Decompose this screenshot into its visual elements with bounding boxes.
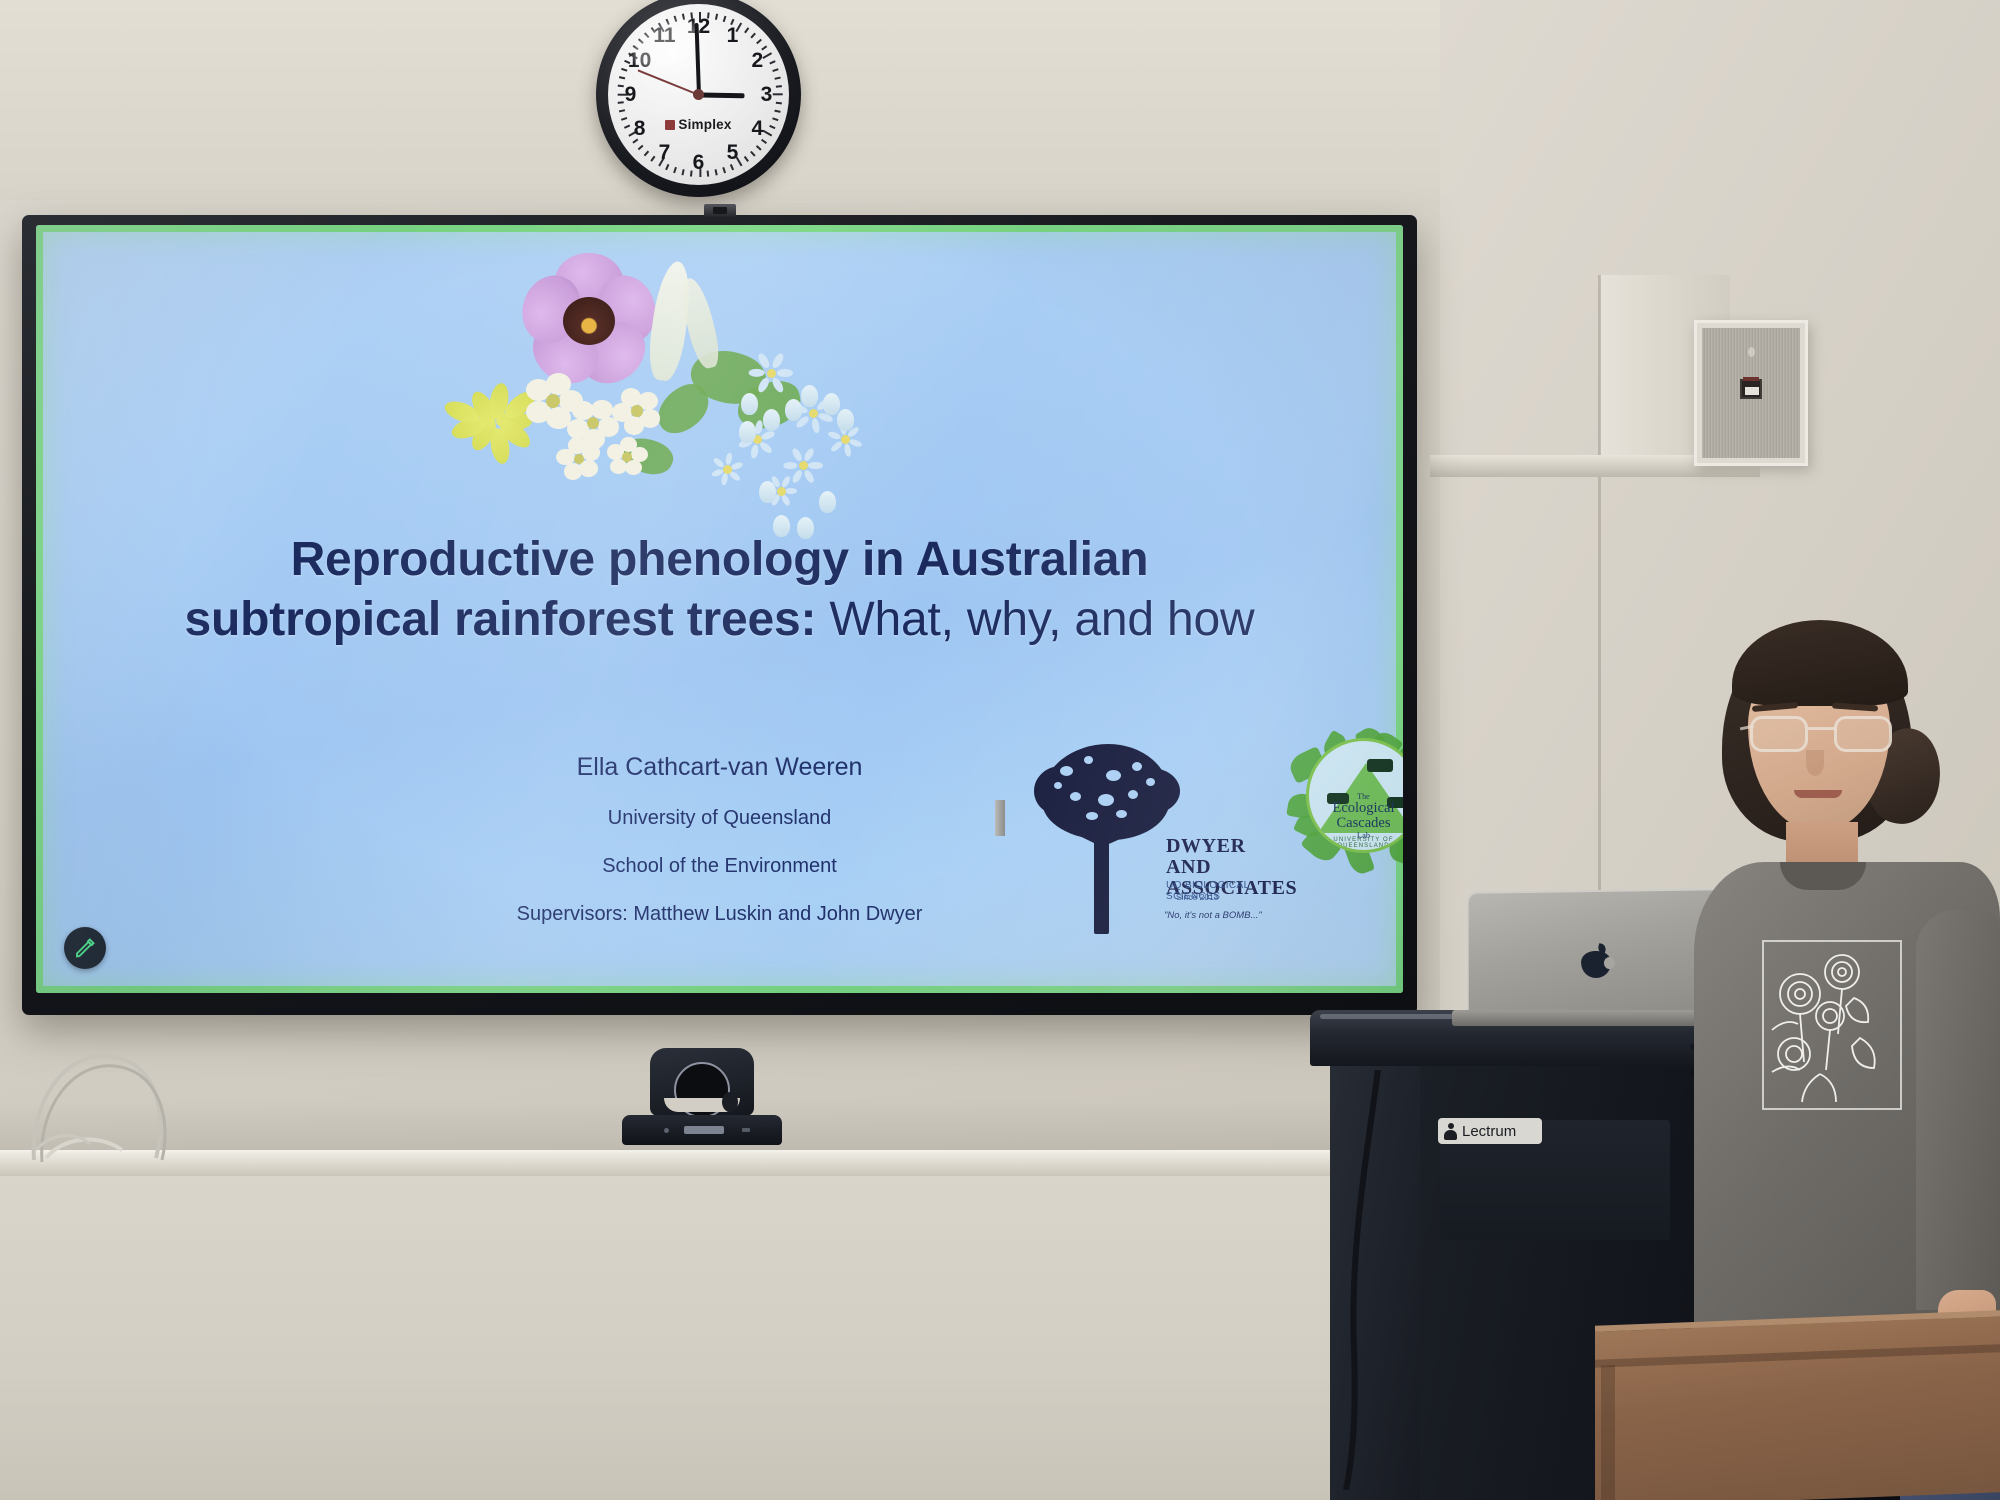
blue-star-petal: [725, 453, 733, 465]
clock-tick: [756, 39, 762, 44]
blue-star-petal: [808, 462, 822, 469]
blue-star-petal: [803, 446, 816, 462]
blue-flower-center: [777, 487, 786, 496]
wooden-desk: [1595, 1310, 2000, 1500]
clock-tick: [644, 151, 649, 157]
clock-numeral-3: 3: [754, 82, 780, 108]
clock-tick: [722, 16, 725, 22]
camera-head: [650, 1048, 754, 1116]
blue-star-petal: [777, 369, 793, 377]
white-flower-center: [622, 452, 632, 462]
blue-star-petal: [783, 462, 797, 469]
tree-canopy-gap: [1086, 812, 1098, 820]
flower-bud: [801, 385, 818, 407]
blue-star-petal: [785, 488, 797, 494]
blue-star-petal: [790, 446, 803, 462]
eco-logo-line1: Ecological: [1309, 801, 1403, 816]
eco-logo-ring: The Ecological Cascades Lab UNIVERSITY O…: [1306, 738, 1403, 853]
wall-clock: 121234567891011 Simplex: [596, 0, 801, 197]
clock-tick: [673, 167, 676, 173]
glasses-bridge: [1808, 727, 1836, 730]
clock-brand-text: Simplex: [678, 117, 731, 132]
presentation-display[interactable]: Reproductive phenology in Australian sub…: [22, 215, 1417, 1015]
blue-star-petal: [761, 430, 776, 441]
clock-tick: [772, 68, 778, 71]
camera-port: [742, 1128, 750, 1132]
desk-leg: [1601, 1365, 1615, 1500]
annotate-pencil-button[interactable]: [64, 927, 106, 969]
clock-tick: [750, 151, 755, 157]
clock-tick: [714, 14, 717, 20]
tree-canopy-gap: [1060, 766, 1073, 776]
eco-logo-ring-text: UNIVERSITY OF QUEENSLAND: [1309, 837, 1403, 849]
slide-content: Reproductive phenology in Australian sub…: [36, 225, 1403, 993]
blue-star-petal: [843, 443, 852, 457]
tree-canopy-gap: [1054, 782, 1062, 789]
tree-canopy-gap: [1070, 792, 1081, 801]
pencil-edit-icon: [73, 936, 97, 960]
wall-speaker: [1694, 320, 1808, 466]
eco-logo-text: The Ecological Cascades Lab: [1309, 793, 1403, 839]
presenter-hair-front: [1732, 620, 1908, 706]
presenter-arm: [1916, 910, 2000, 1310]
flower-bud: [819, 491, 836, 513]
flower-bud: [741, 393, 758, 415]
animal-silhouette-icon: [1367, 759, 1393, 772]
clock-tick: [774, 77, 780, 80]
flower-bud: [759, 481, 776, 503]
flower-bud: [823, 393, 840, 415]
glasses-lens-right: [1834, 716, 1892, 752]
blue-flower-center: [767, 369, 776, 378]
slide-hero-flower-collage: [441, 233, 896, 533]
flower-bud: [785, 399, 802, 421]
clock-numeral-6: 6: [686, 150, 712, 176]
tree-canopy-gap: [1128, 790, 1138, 799]
tree-trunk-icon: [1094, 826, 1109, 934]
dwyer-logo-tagline: "No, it's not a BOMB...": [1164, 910, 1279, 921]
eco-logo-line2: Cascades: [1309, 816, 1403, 831]
tree-canopy-gap: [1098, 794, 1114, 806]
clock-numeral-1: 1: [720, 23, 746, 49]
white-petal: [582, 444, 600, 461]
speaker-badge: [1740, 379, 1762, 399]
floral-line-art-icon: [1764, 942, 1900, 1108]
presenter-shirt-floral-graphic: [1762, 940, 1902, 1110]
lecture-room-scene: 121234567891011 Simplex Reproduc: [0, 0, 2000, 1500]
logo-ecological-cascades-lab: The Ecological Cascades Lab UNIVERSITY O…: [1286, 730, 1403, 880]
blue-star-petal: [810, 418, 820, 434]
presenter-mouth: [1794, 790, 1842, 798]
clock-tick: [722, 167, 725, 173]
speaker-screw: [1748, 347, 1755, 357]
clock-tick: [750, 33, 755, 39]
clock-tick: [756, 145, 762, 150]
blue-star-petal: [721, 473, 729, 485]
display-screen[interactable]: Reproductive phenology in Australian sub…: [36, 225, 1403, 993]
camera-knob: [722, 1092, 738, 1112]
flower-bud: [763, 409, 780, 431]
desk-edge: [1595, 1344, 2000, 1368]
slide-title: Reproductive phenology in Australian sub…: [36, 530, 1403, 649]
purple-flower-dark-center: [563, 297, 615, 345]
blue-star-petal: [771, 353, 786, 370]
blue-star-petal: [849, 438, 863, 448]
camera-indicator-led: [664, 1128, 669, 1133]
presenter-glasses-icon: [1748, 716, 1896, 752]
blue-star-petal: [730, 461, 743, 470]
slide-title-line2-bold: subtropical rainforest trees:: [185, 593, 817, 646]
clock-hour-hand: [698, 92, 744, 98]
blue-flower-center: [809, 409, 818, 418]
lectern-label-text: Lectrum: [1462, 1123, 1516, 1140]
clock-center-cap: [693, 89, 704, 100]
tree-canopy-gap: [1106, 770, 1121, 781]
clock-tick: [774, 110, 780, 113]
wall-lower: [0, 1176, 1440, 1500]
logo-dwyer-and-associates: DWYER AND ASSOCIATES UQ BIOLOGICAL SCIEN…: [1036, 740, 1276, 940]
clock-brand-label: Simplex: [608, 117, 789, 132]
white-petal: [546, 373, 570, 395]
clock-numeral-7: 7: [652, 140, 678, 166]
display-stand-neck: [995, 800, 1005, 836]
blue-star-petal: [790, 468, 803, 484]
clock-face: 121234567891011 Simplex: [608, 4, 789, 185]
blue-star-petal: [750, 444, 759, 459]
dwyer-logo-since: Since 2013: [1176, 892, 1276, 902]
glasses-lens-left: [1750, 716, 1808, 752]
coiled-cables: [30, 1040, 240, 1165]
flower-bud: [837, 409, 854, 431]
clock-numeral-2: 2: [744, 48, 770, 74]
tree-canopy-gap: [1084, 756, 1093, 764]
camera-status-panel: [684, 1126, 724, 1134]
clock-numeral-5: 5: [720, 140, 746, 166]
clock-tick: [618, 77, 624, 80]
white-petal: [567, 419, 589, 439]
clock-tick: [637, 145, 643, 150]
presenter-nose: [1806, 750, 1824, 776]
slide-title-line1: Reproductive phenology in Australian: [291, 533, 1149, 586]
white-flower-center: [546, 394, 560, 408]
clock-tick: [618, 110, 624, 113]
white-flower-center: [631, 405, 643, 417]
blue-star-petal: [803, 468, 816, 484]
clock-numeral-9: 9: [618, 82, 644, 108]
blue-flower-center: [723, 465, 732, 474]
display-camera-module-icon: [704, 204, 736, 217]
tree-canopy-gap: [1132, 762, 1142, 771]
conference-camera: [622, 1040, 782, 1145]
simplex-logo-icon: [665, 120, 675, 130]
slide-title-line2-regular: What, why, and how: [829, 593, 1254, 646]
clock-tick: [681, 169, 684, 175]
blue-flower-center: [841, 435, 850, 444]
tree-canopy-gap: [1116, 810, 1127, 818]
lectern-cable: [1320, 1070, 1460, 1490]
blue-star-petal: [827, 430, 841, 440]
blue-flower-center: [799, 461, 808, 470]
tree-canopy-gap: [1146, 778, 1155, 786]
clock-tick: [714, 169, 717, 175]
apple-logo-icon: [1581, 944, 1611, 978]
white-petal: [564, 463, 582, 480]
camera-base: [622, 1115, 782, 1145]
flower-bud: [739, 421, 756, 443]
white-petal: [625, 460, 642, 475]
white-petal: [631, 447, 648, 462]
